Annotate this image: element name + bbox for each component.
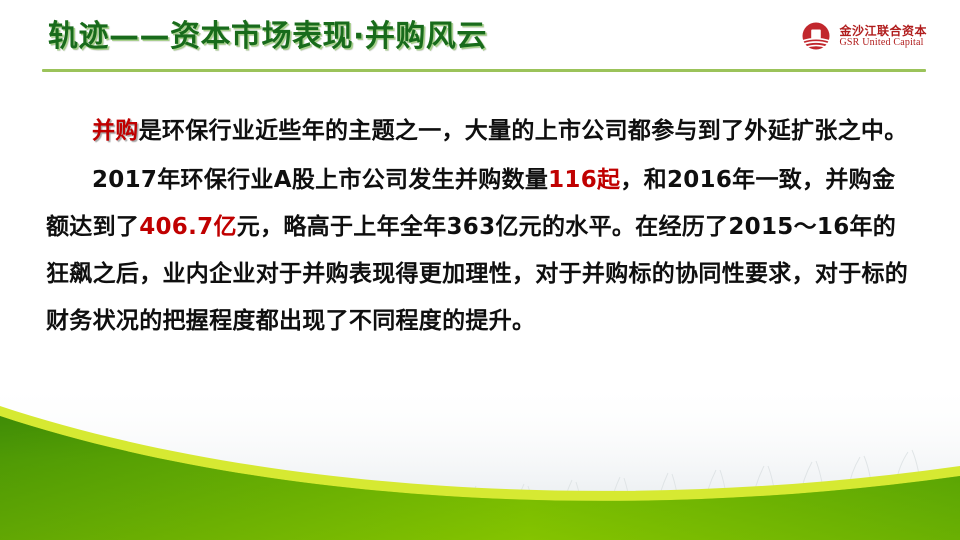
- logo-wordmark: 金沙江联合资本 GSR United Capital: [839, 25, 927, 48]
- title-underline-rule: [42, 69, 926, 72]
- paragraph-1: 并购是环保行业近些年的主题之一，大量的上市公司都参与到了外延扩张之中。: [46, 108, 918, 155]
- slide-header: 轨迹——资本市场表现·并购风云 金沙江联合资本 GSR United Capit…: [0, 0, 960, 80]
- slide: 轨迹——资本市场表现·并购风云 金沙江联合资本 GSR United Capit…: [0, 0, 960, 540]
- page-title: 轨迹——资本市场表现·并购风云: [48, 22, 487, 52]
- paragraph-2-text-a: 2017年环保行业A股上市公司发生并购数量: [92, 167, 548, 193]
- highlight-deal-value: 406.7亿: [139, 214, 237, 240]
- highlight-term-merger: 并购: [92, 118, 139, 144]
- highlight-deal-count: 116起: [548, 167, 620, 193]
- gsr-red-circle-emblem-icon: [799, 20, 833, 54]
- green-grass-field-decoration: [0, 380, 960, 540]
- logo-name-en: GSR United Capital: [839, 38, 927, 49]
- company-logo: 金沙江联合资本 GSR United Capital: [799, 20, 927, 54]
- paragraph-2: 2017年环保行业A股上市公司发生并购数量116起，和2016年一致，并购金额达…: [46, 157, 918, 345]
- paragraph-1-text: 是环保行业近些年的主题之一，大量的上市公司都参与到了外延扩张之中。: [139, 118, 908, 144]
- slide-body: 并购是环保行业近些年的主题之一，大量的上市公司都参与到了外延扩张之中。 2017…: [46, 108, 918, 347]
